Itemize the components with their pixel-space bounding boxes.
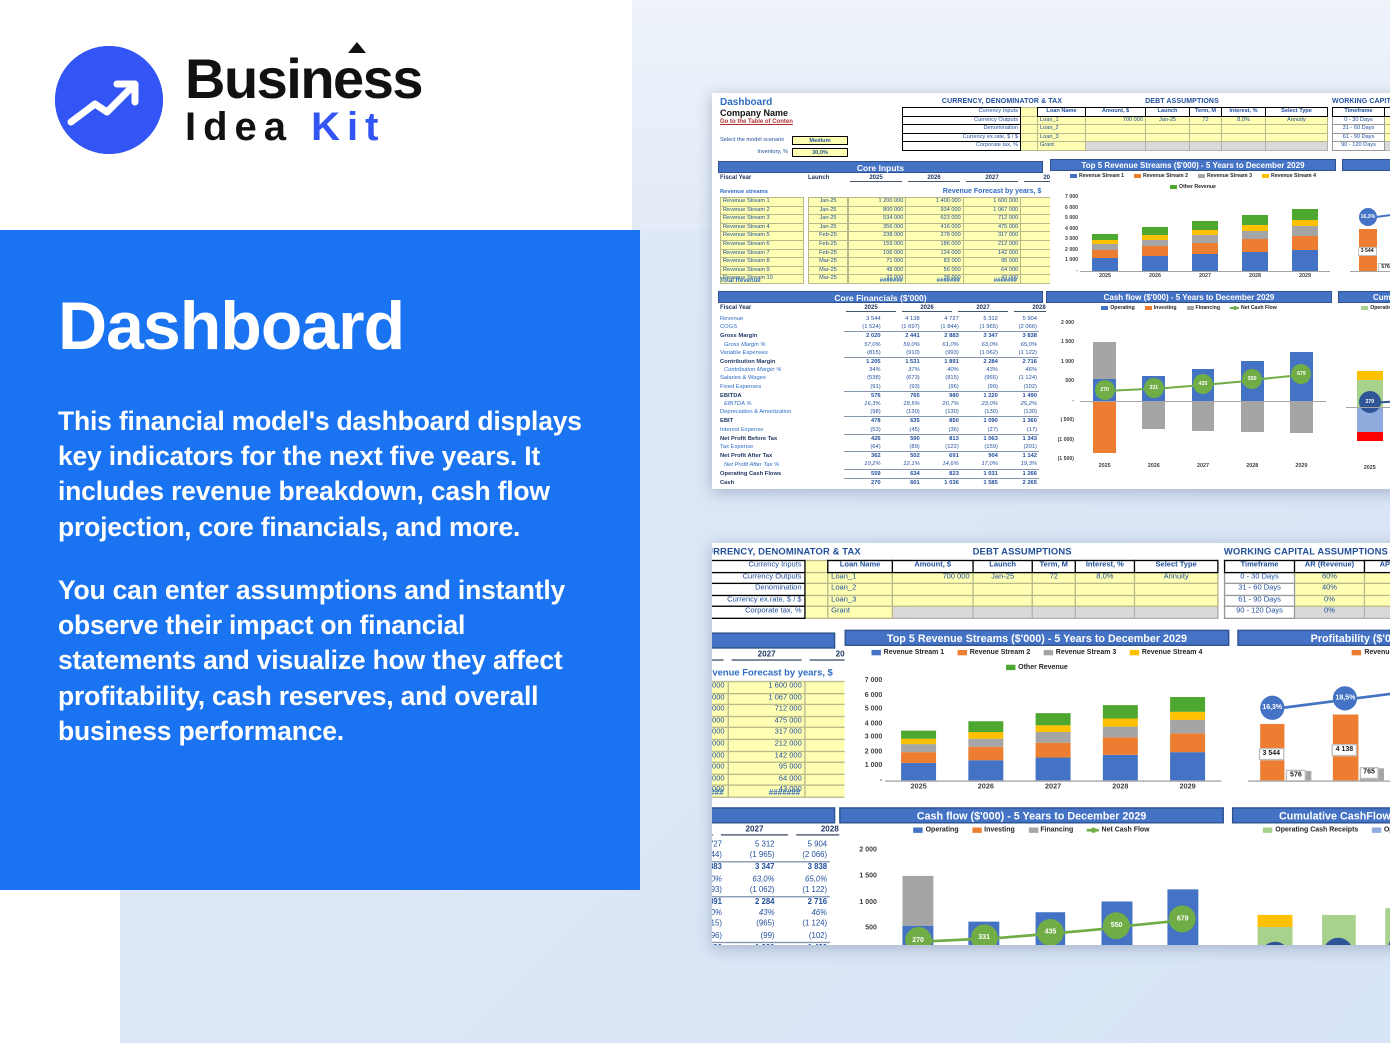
wc-cell[interactable]: 40% [1295,584,1365,596]
revenue-stream-name[interactable]: Revenue Stream 9 [721,266,804,275]
financial-row-label: Fixed Expenses [714,383,844,392]
wc-cell[interactable]: 60% [1295,572,1365,584]
financial-value: 5 904 [777,840,830,851]
y-tick-label: 1 500 [1048,339,1074,345]
y-tick-label: 6 000 [847,691,882,699]
debt-cell[interactable] [892,595,973,607]
financial-value: 904 [961,452,1000,461]
debt-cell[interactable]: Loan_2 [1038,125,1086,134]
debt-cell[interactable] [973,607,1032,619]
financial-value: 362 [844,452,883,461]
legend-item: Revenue Stream 2 [1134,173,1188,179]
debt-cell[interactable]: Grant [828,607,893,619]
debt-cell[interactable]: 8,0% [1222,116,1266,125]
table-row: Fixed Expenses(91)(93)(96)(99)(102) [714,383,1039,392]
debt-cell[interactable] [1146,125,1190,134]
total-revenue-value: ####### [905,278,960,284]
legend-item: Revenue Stream 1 [1070,173,1124,179]
legend-item: Other Revenue [1170,184,1216,190]
financial-row-label: Gross Margin % [714,341,844,349]
financial-value: (130) [1000,408,1039,417]
financial-value: (99) [961,383,1000,392]
y-tick-label: - [1052,268,1078,274]
revenue-value[interactable]: 1 400 000 [712,682,728,694]
debt-cell[interactable] [1134,595,1217,607]
financial-value: 16,3% [844,400,883,408]
wc-cell[interactable]: 30% [1364,595,1390,607]
bar-segment [1036,732,1071,742]
debt-cell[interactable]: Annuity [1134,572,1217,584]
legend-label: Revenue [1364,649,1390,657]
financial-value: 426 [844,434,883,443]
debt-cell[interactable]: Jan-25 [973,572,1032,584]
chart-cumulative-cashflow: Cumulative CashFlow ($'000) - 5 Years to… [1338,291,1390,481]
year-header: 2026 [712,826,713,835]
x-axis-labels: 20252026202720282029 [1080,273,1330,279]
financial-row-label: Contribution Margin [714,358,844,367]
revenue-value[interactable]: 278 000 [906,232,963,241]
revenue-stream-name[interactable]: Revenue Stream 8 [721,258,804,267]
revenue-launch[interactable]: Feb-25 [809,249,848,258]
revenue-value[interactable]: 934 000 [906,206,963,215]
bar-segment [1192,254,1218,271]
financial-value: 40% [922,366,961,374]
bar-segment [1192,401,1215,431]
revenue-launch[interactable]: Jan-25 [809,223,848,232]
wc-cell[interactable]: 20% [1364,584,1390,596]
debt-block-header: DEBT ASSUMPTIONS [1037,98,1327,105]
financial-value: 43% [725,908,778,919]
debt-cell[interactable] [1266,125,1328,134]
y-tick-label: 2 000 [842,846,877,854]
revenue-launch[interactable]: Feb-25 [809,240,848,249]
bar-segment [1170,696,1205,711]
financial-value: 3 838 [1000,332,1039,341]
y-tick-label: 3 000 [1052,236,1078,242]
debt-cell[interactable] [1032,607,1075,619]
chart-title: Top 5 Revenue Streams ($'000) - 5 Years … [845,630,1230,646]
y-tick-label: 1 000 [842,899,877,907]
revenue-value[interactable]: 159 000 [849,240,906,249]
debt-cell[interactable]: Jan-25 [1146,116,1190,125]
sheet-company-name: Company Name [720,108,788,118]
table-row: Revenue Stream 1 [721,198,804,207]
table-row: 90 - 120 Days0%40% [1333,142,1390,151]
table-row: Net Profit After Tax %10,2%12,1%14,6%17,… [714,460,1039,469]
debt-cell[interactable]: Loan_3 [1038,133,1086,142]
table-row: Tax Expense(64)(89)(122)(159)(201) [714,443,1039,452]
y-tick-label: (1 000) [1048,437,1074,443]
revenue-stream-name[interactable]: Revenue Stream 5 [721,232,804,241]
revenue-value[interactable]: 1 067 000 [963,206,1020,215]
financial-value: 1 490 [777,942,830,945]
revenue-stream-name[interactable]: Revenue Stream 2 [721,206,804,215]
financial-value: 63,0% [725,874,778,885]
wc-block-header: WORKING CAPITAL ASSUMPTIONS [1224,548,1390,557]
debt-cell[interactable] [1190,142,1222,151]
bar-segment [1290,401,1313,433]
revenue-launch[interactable]: Jan-25 [809,206,848,215]
wc-cell[interactable]: 0% [1385,142,1390,151]
table-row: Revenue Stream 2 [721,206,804,215]
debt-cell[interactable] [1134,584,1217,596]
financial-value: 18,5% [883,400,922,408]
financial-value: 5 904 [1000,315,1039,323]
revenue-value[interactable]: 534 000 [849,215,906,224]
wc-cell: 0 - 30 Days [1225,572,1295,584]
revenue-value[interactable]: 124 000 [906,249,963,258]
revenue-stream-name[interactable]: Revenue Stream 1 [721,198,804,207]
financial-value: (1 062) [725,885,778,897]
revenue-value[interactable]: 95 000 [963,258,1020,267]
table-row: 61 - 90 Days0%30% [1225,595,1390,607]
financial-value: 65,0% [777,874,830,885]
debt-cell[interactable] [973,595,1032,607]
bar-label-revenue: 4 138 [1332,743,1358,755]
debt-col-header: Interest, % [1222,108,1266,117]
x-axis-labels: 20252026202720282029 [1080,463,1326,469]
revenue-value[interactable]: 56 000 [712,774,728,786]
debt-cell[interactable]: Loan_1 [1038,116,1086,125]
financial-value: (1 965) [725,851,778,863]
x-tick-label: 2027 [1178,463,1227,469]
revenue-value[interactable]: 475 000 [728,716,805,728]
revenue-launch[interactable]: Feb-25 [809,232,848,241]
legend-line-swatch [1087,829,1099,832]
revenue-value[interactable]: 142 000 [728,751,805,763]
table-row: Contribution Margin %34%37%40%43%46% [714,366,1039,374]
revenue-value[interactable]: 278 000 [712,728,728,740]
table-row: Jan-25 [809,215,848,224]
bar-segment [968,747,1003,760]
debt-cell[interactable]: Grant [1038,142,1086,151]
financial-value: 2 883 [712,862,725,874]
legend-label: Revenue Stream 2 [1143,173,1188,179]
wc-cell[interactable]: 60% [1385,116,1390,125]
debt-cell[interactable] [1146,142,1190,151]
financial-value: 1 220 [961,391,1000,400]
revenue-value[interactable]: 416 000 [712,716,728,728]
financial-value: 980 [922,391,961,400]
chart-profitability: Profitability ($'000) - 5 Years to Decem… [1237,630,1390,799]
revenue-value[interactable]: 142 000 [963,249,1020,258]
wc-block-header: WORKING CAPITAL ASSUMPTIONS [1332,98,1390,105]
debt-cell[interactable] [1075,595,1134,607]
table-row: Grant [1038,142,1328,151]
chart-title: Cumulative CashFlow ($'000) - 5 Years to… [1338,291,1390,303]
bar-segment [1192,230,1218,235]
bubble-net-cash-flow: 270 [905,927,932,945]
debt-cell[interactable]: Loan_2 [828,584,893,596]
wc-cell[interactable]: 40% [1385,125,1390,134]
chart-profitability: Profitability ($'000) - 5 Years to Decem… [1342,159,1390,285]
bubble-net-cash-flow: 331 [971,924,998,945]
debt-cell[interactable] [1190,125,1222,134]
axis-line [1248,780,1390,781]
table-row: EBITDA5767659801 2201 490 [714,391,1039,400]
legend-item: Operating Cash Receipts [1361,305,1390,311]
bar-segment [1192,235,1218,243]
revenue-launch[interactable]: Mar-25 [809,258,848,267]
financial-row-label: Interest Expense [714,426,844,435]
hero-panel: Dashboard This financial model's dashboa… [0,230,640,890]
revenue-stream-name[interactable]: Revenue Stream 6 [721,240,804,249]
y-tick-label: 2 000 [1048,320,1074,326]
wc-col-header: AR (Revenue) [1385,108,1390,117]
revenue-value[interactable]: 186 000 [712,739,728,751]
wc-cell: 90 - 120 Days [1333,142,1385,151]
debt-cell[interactable] [1222,133,1266,142]
revenue-value[interactable]: 1 600 000 [963,198,1020,207]
revenue-value[interactable]: 83 000 [712,762,728,774]
revenue-value[interactable]: 212 000 [963,240,1020,249]
financial-row-label: EBIT [714,417,844,426]
y-tick-label: 2 000 [1052,247,1078,253]
financial-value: 813 [922,434,961,443]
debt-cell[interactable]: Loan_1 [828,572,893,584]
wc-cell[interactable]: 40% [1364,607,1390,619]
chart-title: Cash flow ($'000) - 5 Years to December … [839,807,1224,823]
financial-value: 2 716 [777,897,830,909]
financial-value: (1 124) [1000,374,1039,382]
debt-cell[interactable]: 8,0% [1075,572,1134,584]
debt-cell[interactable]: Loan_3 [828,595,893,607]
table-row: Gross Margin2 0202 4412 8833 3473 838 [714,332,1039,341]
financial-value: (1 697) [883,323,922,332]
wc-cell: 90 - 120 Days [1225,607,1295,619]
revenue-stream-name[interactable]: Revenue Stream 7 [721,249,804,258]
debt-cell[interactable] [973,584,1032,596]
legend-item: Other Revenue [1006,663,1068,671]
revenue-value[interactable]: 712 000 [728,705,805,717]
revenue-value[interactable]: 56 000 [906,266,963,275]
financial-value: 5 312 [961,315,1000,323]
financial-value: 37% [883,366,922,374]
debt-cell[interactable]: 72 [1190,116,1222,125]
debt-cell[interactable] [1075,607,1134,619]
year-header: 2027 [732,651,802,660]
table-row: 31 - 60 Days40%20% [1225,584,1390,596]
legend-swatch [914,827,923,832]
financial-value: 61,0% [712,874,725,885]
revenue-value[interactable]: 1 200 000 [849,198,906,207]
table-row: Revenue Stream 3 [721,215,804,224]
revenue-value[interactable]: 934 000 [712,693,728,705]
financial-value: 3 347 [961,332,1000,341]
bubble-ebitda-pct: 16,3% [1260,696,1284,720]
financial-value: 12,1% [883,460,922,469]
scenario-label: Select the model scenario [720,137,784,143]
brand-name-secondary: Idea Kit [185,105,422,149]
revenue-value[interactable]: 106 000 [849,249,906,258]
hero-paragraph-2: You can enter assumptions and instantly … [58,573,590,749]
x-tick-label: 2025 [1080,463,1129,469]
wc-cell[interactable]: 0% [1385,133,1390,142]
revenue-value[interactable]: 317 000 [728,728,805,740]
bar-segment [1092,258,1118,271]
financial-value: 14,6% [922,460,961,469]
debt-cell[interactable] [1266,133,1328,142]
inventory-value[interactable]: 30,0% [792,148,848,157]
bar-segment [903,876,933,926]
revenue-value[interactable]: 356 000 [849,223,906,232]
financial-value: 46% [777,908,830,919]
financial-value: 25,2% [1000,400,1039,408]
x-axis-labels: 20252026202720282029 [885,783,1221,791]
legend-item: Operating Cash Receipts [1263,826,1358,834]
revenue-value[interactable]: 64 000 [963,266,1020,275]
year-header: 2026 [902,305,952,312]
scenario-value[interactable]: Medium [792,136,848,145]
table-row: 31 - 60 Days40%20% [1333,125,1390,134]
debt-cell[interactable]: 700 000 [1086,116,1146,125]
financial-value: (36) [922,426,961,435]
core-financials-header: Core Financials ($'000) [712,807,835,823]
table-row: Depreciation & Amortization(98)(130)(130… [714,408,1039,417]
legend-item: Operating [914,826,959,834]
wc-cell[interactable]: 0% [1295,595,1365,607]
debt-cell[interactable] [1266,142,1328,151]
bar-segment [1142,240,1168,247]
financial-value: (673) [883,374,922,382]
revenue-value[interactable]: 1 067 000 [728,693,805,705]
legend-swatch [872,650,881,655]
financial-value: (130) [961,408,1000,417]
debt-col-header: Launch [973,561,1032,573]
financial-value: 850 [922,417,961,426]
table-row: Revenue Stream 5 [721,232,804,241]
debt-cell[interactable] [1190,133,1222,142]
x-tick-label: 2028 [1228,463,1277,469]
financial-row-label: Salaries & Wages [714,374,844,382]
revenue-value[interactable]: 1 400 000 [906,198,963,207]
x-tick-label: 2029 [1280,273,1330,279]
revenue-value[interactable]: 238 000 [849,232,906,241]
bubble-net-cash-flow: 270 [1095,380,1115,400]
x-tick-label: 2027 [1019,783,1086,791]
legend-item: Revenue Stream 3 [1044,649,1117,657]
debt-cell[interactable] [1032,595,1075,607]
revenue-value[interactable]: 623 000 [906,215,963,224]
fiscal-year-label-2: Fiscal Year [720,305,751,311]
financial-value: 1 490 [1000,391,1039,400]
debt-cell[interactable]: 700 000 [892,572,973,584]
dashboard-screenshot-zoomed: DashboardCompany NameGo to the Table of … [712,543,1390,945]
debt-cell[interactable] [1222,142,1266,151]
revenue-value[interactable]: 317 000 [963,232,1020,241]
financial-value: 3 544 [844,315,883,323]
wc-cell: 31 - 60 Days [1225,584,1295,596]
year-header: 2027 [966,175,1018,182]
growth-arrow-icon [55,46,163,154]
y-tick-label: 6 000 [1052,205,1078,211]
financial-value: 1 220 [725,942,778,945]
revenue-launch[interactable]: Jan-25 [809,198,848,207]
financial-value: (2 066) [1000,323,1039,332]
revenue-value[interactable]: 95 000 [728,762,805,774]
toc-link[interactable]: Go to the Table of Conten [720,119,793,125]
x-tick-label: 2025 [1346,465,1390,471]
debt-cell[interactable] [1086,125,1146,134]
revenue-launch[interactable]: Mar-25 [809,266,848,275]
debt-cell[interactable] [892,607,973,619]
chart-legend: OperatingInvestingFinancingNet Cash Flow [1046,303,1332,312]
revenue-value[interactable]: 712 000 [963,215,1020,224]
table-row: Revenue Stream 9 [721,266,804,275]
revenue-value[interactable]: 186 000 [906,240,963,249]
revenue-value[interactable]: 71 000 [849,258,906,267]
legend-swatch [1134,174,1141,178]
debt-cell[interactable]: Annuity [1266,116,1328,125]
bar-segment [1257,914,1292,926]
revenue-value[interactable]: 83 000 [906,258,963,267]
financial-row-label: COGS [714,323,844,332]
financial-value: 2 716 [1000,358,1039,367]
debt-cell[interactable] [1032,584,1075,596]
revenue-launch[interactable]: Mar-25 [809,275,848,284]
legend-swatch [1361,306,1368,310]
financial-value: 635 [883,417,922,426]
debt-col-header: Loan Name [1038,108,1086,117]
debt-cell[interactable]: 72 [1032,572,1075,584]
financial-value: 559 [844,469,883,478]
legend-swatch [1198,174,1205,178]
legend-item: Operating Cash Payments [1372,826,1390,834]
wc-cell[interactable]: 10% [1364,572,1390,584]
wc-cell[interactable]: 0% [1295,607,1365,619]
revenue-value[interactable]: 212 000 [728,739,805,751]
financial-value: (99) [725,931,778,943]
year-header: 2027 [958,305,1008,312]
x-tick-label: 2026 [1130,273,1180,279]
revenue-stream-name[interactable]: Revenue Stream 3 [721,215,804,224]
debt-cell[interactable] [1086,133,1146,142]
debt-cell[interactable] [1134,607,1217,619]
axis-line [885,780,1221,781]
revenue-value[interactable]: 64 000 [728,774,805,786]
revenue-stream-name[interactable]: Revenue Stream 4 [721,223,804,232]
chart-cash-flow: Cash flow ($'000) - 5 Years to December … [1046,291,1332,481]
revenue-value[interactable]: 800 000 [849,206,906,215]
legend-line-swatch [1230,307,1239,309]
debt-cell[interactable] [1075,584,1134,596]
chart-title: Profitability ($'000) - 5 Years to Decem… [1237,630,1390,646]
revenue-value[interactable]: 416 000 [906,223,963,232]
table-row: Gross Margin %57,0%59,0%61,0%63,0%65,0% [712,874,830,885]
debt-cell[interactable] [1146,133,1190,142]
financial-value: (910) [883,349,922,358]
revenue-value[interactable]: 48 000 [849,266,906,275]
table-row: 90 - 120 Days0%40% [1225,607,1390,619]
revenue-value[interactable]: 124 000 [712,751,728,763]
bar-segment [1142,246,1168,256]
revenue-launch[interactable]: Jan-25 [809,215,848,224]
debt-cell[interactable] [1222,125,1266,134]
financial-value: (1 122) [777,885,830,897]
chart-legend: Revenue Stream 1Revenue Stream 2Revenue … [845,646,1230,673]
revenue-value[interactable]: 1 600 000 [728,682,805,694]
revenue-value[interactable]: 623 000 [712,705,728,717]
revenue-value[interactable]: 475 000 [963,223,1020,232]
total-revenue-value: ####### [848,278,903,284]
table-row: Net Profit Before Tax4265908131 0631 343 [714,434,1039,443]
table-row: Net Profit After Tax3625026919041 142 [714,452,1039,461]
wc-cell: 61 - 90 Days [1333,133,1385,142]
debt-cell[interactable] [1086,142,1146,151]
debt-cell[interactable] [892,584,973,596]
table-row: Jan-25 [809,206,848,215]
wc-col-header: AR (Revenue) [1295,561,1365,573]
